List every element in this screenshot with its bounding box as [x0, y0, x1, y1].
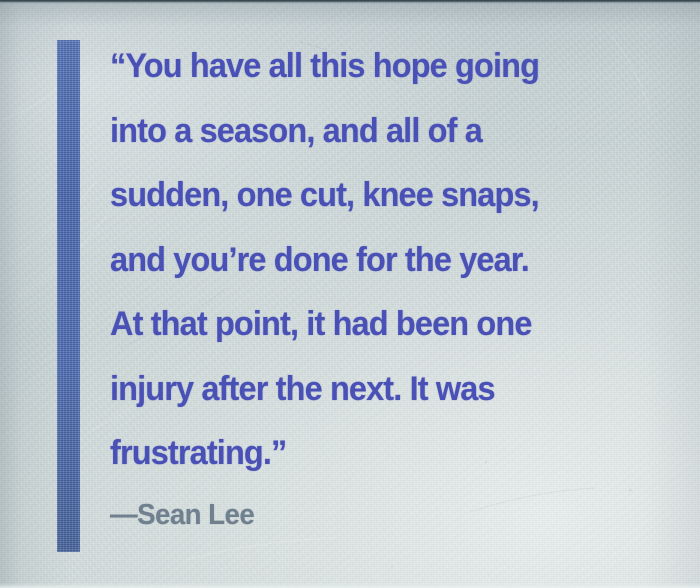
quote-line: into a season, and all of a — [110, 99, 557, 164]
quote-attribution: —Sean Lee — [110, 495, 254, 535]
quote-line: frustrating.” — [110, 421, 557, 486]
quote-line: and you’re done for the year. — [110, 228, 557, 293]
accent-bar — [57, 40, 80, 552]
quote-line: sudden, one cut, knee snaps, — [110, 163, 557, 228]
pull-quote-card: “You have all this hope going into a sea… — [0, 0, 700, 588]
quote-line: At that point, it had been one — [110, 292, 557, 357]
quote-line: injury after the next. It was — [110, 357, 557, 422]
quote-line: “You have all this hope going — [110, 34, 557, 99]
quote-text-block: “You have all this hope going into a sea… — [110, 34, 578, 486]
